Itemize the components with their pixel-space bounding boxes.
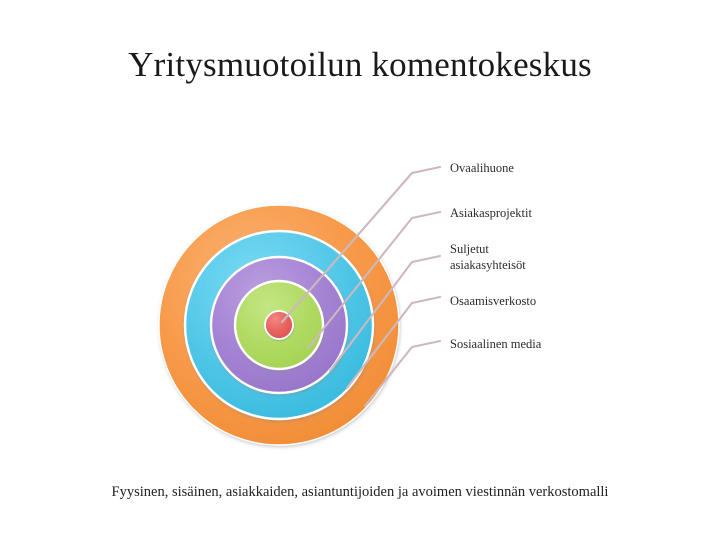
callout-label-sosiaalinen-media: Sosiaalinen media	[450, 336, 541, 352]
concentric-circles-diagram	[0, 0, 720, 540]
callout-label-asiakasprojektit: Asiakasprojektit	[450, 205, 532, 221]
callout-label-suljetut-asiakasyhteisot: Suljetut asiakasyhteisöt	[450, 241, 526, 273]
callout-label-osaamisverkosto: Osaamisverkosto	[450, 293, 536, 309]
slide-canvas: Yritysmuotoilun komentokeskus	[0, 0, 720, 540]
ring-group	[159, 205, 399, 445]
callout-label-ovaalihuone: Ovaalihuone	[450, 160, 514, 176]
slide-caption: Fyysinen, sisäinen, asiakkaiden, asiantu…	[0, 484, 720, 501]
